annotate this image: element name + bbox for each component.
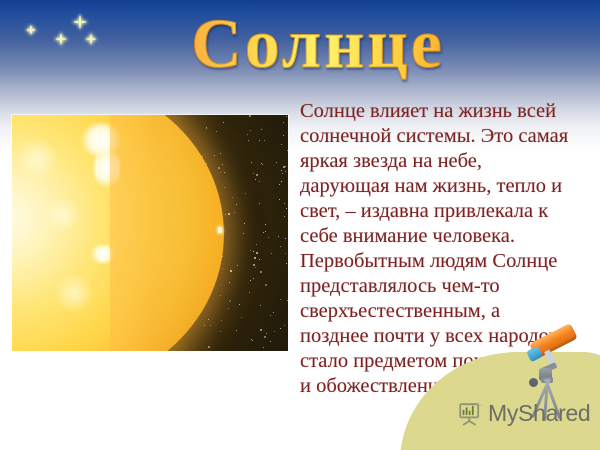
solar-flare [90,245,116,263]
background-star-point [285,171,286,172]
background-star-point [282,173,283,174]
solar-flare [12,195,16,209]
background-star-point [286,116,287,117]
background-star-point [220,331,221,332]
background-star-point [230,300,231,301]
background-star-point [260,305,261,306]
bright-point-object [218,227,222,233]
background-star-point [250,280,251,281]
background-star-point [206,128,207,129]
background-star-point [256,252,258,254]
background-star-point [283,122,284,123]
background-star-point [250,250,251,251]
background-star-point [204,325,205,326]
photosphere-granule [14,139,60,179]
slide-title: Солнце [108,5,528,87]
background-star-point [244,223,245,224]
background-star-point [239,304,240,305]
background-star-point [248,140,249,141]
background-star-point [263,232,264,233]
background-star-point [264,336,266,338]
sun-disc [12,115,224,351]
sun-limb-photograph [12,115,288,351]
watermark-label: MyShared [488,400,590,427]
background-star-point [241,317,242,318]
background-star-point [208,346,210,348]
background-star-point [253,251,254,252]
photosphere-granule [44,199,82,231]
background-star-point [285,253,286,254]
background-star-point [254,257,256,259]
background-star-point [229,301,230,302]
background-star-point [260,329,262,331]
background-star-point [279,199,280,200]
telescope-counterweight-icon [529,378,538,387]
myshared-watermark: MyShared [457,400,590,427]
background-star-point [245,193,246,194]
background-star-point [278,236,279,237]
photosphere-granule [52,275,96,311]
background-star-point [265,224,266,225]
presentation-slide: Солнце Солнце влияет на жизнь всей солне… [0,0,600,450]
background-star-point [224,172,225,173]
background-star-point [253,173,254,174]
background-star-point [270,341,271,342]
background-star-point [247,134,248,135]
background-star-point [287,150,288,151]
background-star-point [249,115,251,117]
presentation-easel-icon [457,402,483,426]
background-star-point [262,164,263,165]
background-star-point [259,259,260,260]
background-star-point [252,340,253,341]
background-star-point [287,300,288,301]
background-star-point [261,129,262,130]
background-star-point [222,268,223,269]
solar-flare [94,145,120,191]
background-star-point [218,167,220,169]
background-star-point [281,181,282,182]
background-star-point [228,213,230,215]
background-star-point [265,231,266,232]
